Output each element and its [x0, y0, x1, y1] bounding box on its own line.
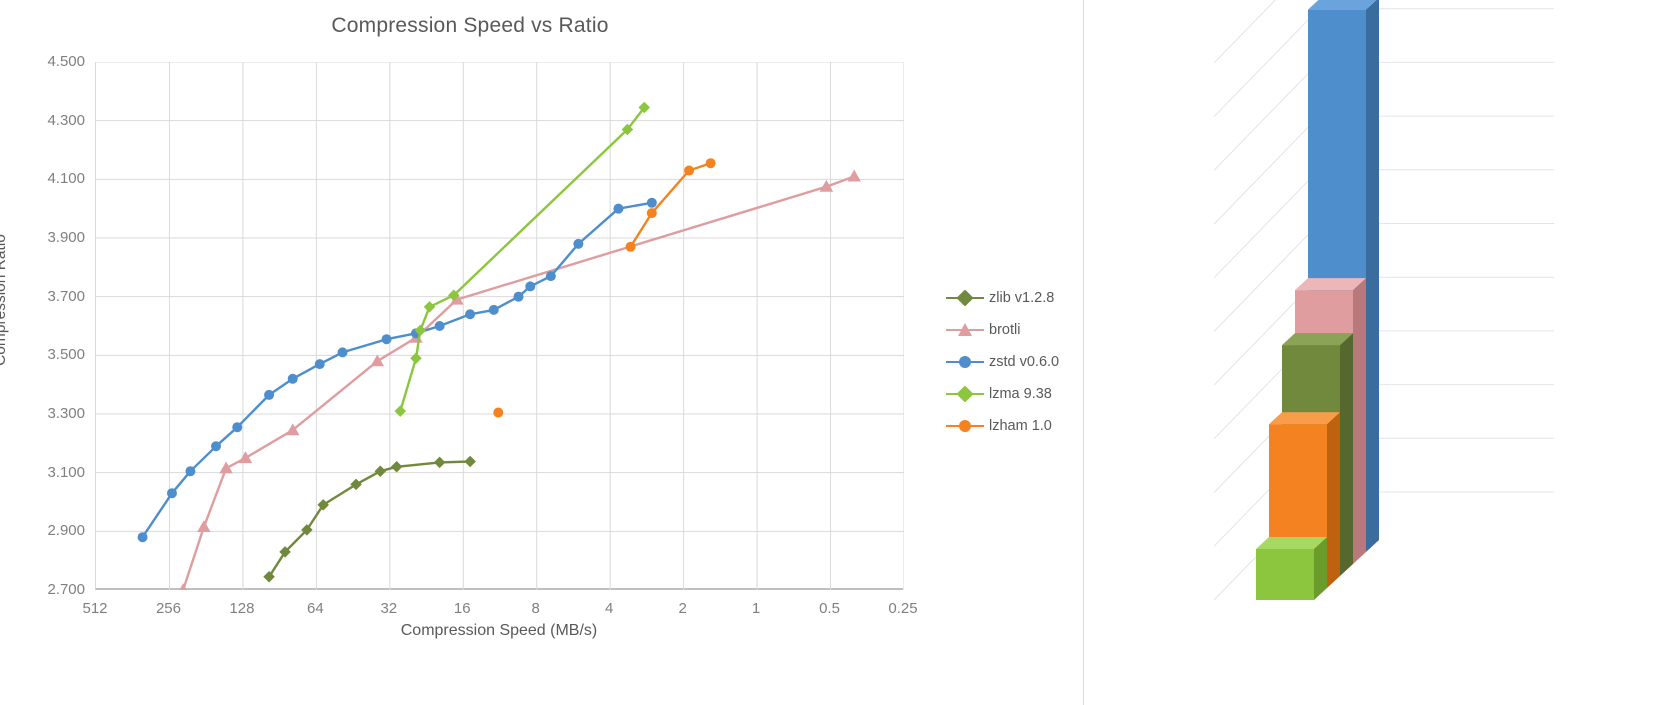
data-point: [350, 479, 361, 491]
series-line: [400, 108, 644, 412]
y-axis-title: Compression Ratio: [0, 234, 10, 366]
data-point: [525, 281, 535, 291]
data-point: [647, 208, 657, 218]
data-point: [573, 239, 583, 249]
data-point: [176, 583, 190, 590]
data-point: [197, 520, 211, 532]
bar-side-face: [1366, 0, 1379, 552]
compression-scatter-panel: Compression Speed vs Ratio Compression R…: [0, 0, 1083, 705]
legend-marker-icon: [946, 290, 984, 306]
y-tick-label: 3.100: [23, 464, 85, 481]
data-point: [264, 390, 274, 400]
data-point: [435, 321, 445, 331]
data-point: [219, 462, 233, 474]
bar-front-face: [1256, 549, 1314, 600]
data-point: [288, 374, 298, 384]
data-point: [546, 271, 556, 281]
x-tick-label: 64: [285, 600, 345, 617]
data-point: [138, 532, 148, 542]
data-point: [424, 301, 436, 313]
legend-marker-icon: [946, 418, 984, 434]
legend-item-zstd[interactable]: zstd v0.6.0: [946, 346, 1081, 378]
bar-side-face: [1353, 278, 1366, 564]
y-tick-label: 3.700: [23, 288, 85, 305]
data-point: [464, 456, 476, 468]
decompression-bar-panel: 01002003004005006007008009001000 zstd v0…: [1084, 0, 1670, 705]
page-title: Compression Speed vs Ratio: [0, 14, 940, 38]
x-tick-label: 16: [432, 600, 492, 617]
legend-item-lzham[interactable]: lzham 1.0: [946, 410, 1081, 442]
legend: zlib v1.2.8brotlizstd v0.6.0lzma 9.38lzh…: [946, 282, 1081, 442]
data-point: [338, 347, 348, 357]
data-point: [395, 405, 407, 417]
data-point: [211, 441, 221, 451]
legend-marker-icon: [946, 322, 984, 338]
plot-area: [95, 62, 903, 590]
x-tick-label: 4: [579, 600, 639, 617]
plot-svg: [96, 62, 904, 590]
data-point: [847, 170, 861, 182]
data-point: [613, 204, 623, 214]
data-point: [391, 461, 403, 473]
legend-item-lzma[interactable]: lzma 9.38: [946, 378, 1081, 410]
data-point: [489, 305, 499, 315]
legend-label: brotli: [989, 322, 1020, 338]
legend-label: zstd v0.6.0: [989, 354, 1059, 370]
data-point: [167, 488, 177, 498]
bar-side-face: [1340, 333, 1353, 576]
series-line: [269, 462, 470, 577]
data-point: [410, 353, 422, 365]
x-tick-label: 8: [506, 600, 566, 617]
data-point: [684, 166, 694, 176]
data-point: [626, 242, 636, 252]
data-point: [465, 309, 475, 319]
x-tick-label: 32: [359, 600, 419, 617]
data-point: [434, 457, 446, 469]
data-point: [375, 465, 387, 477]
data-point: [185, 466, 195, 476]
data-point: [232, 422, 242, 432]
y-tick-label: 4.100: [23, 170, 85, 187]
legend-marker-icon: [946, 386, 984, 402]
data-point: [493, 408, 503, 418]
data-point: [647, 198, 657, 208]
data-point: [706, 158, 716, 168]
legend-item-zlib[interactable]: zlib v1.2.8: [946, 282, 1081, 314]
y-tick-label: 4.500: [23, 53, 85, 70]
x-tick-label: 2: [653, 600, 713, 617]
bar-chart-svg: [1084, 0, 1670, 705]
data-point: [371, 354, 385, 366]
y-tick-label: 3.300: [23, 405, 85, 422]
x-tick-label: 128: [212, 600, 272, 617]
legend-item-brotli[interactable]: brotli: [946, 314, 1081, 346]
data-point: [382, 334, 392, 344]
chart-page: Compression Speed vs Ratio Compression R…: [0, 0, 1670, 705]
y-tick-label: 2.700: [23, 581, 85, 598]
y-tick-label: 2.900: [23, 522, 85, 539]
legend-label: zlib v1.2.8: [989, 290, 1054, 306]
x-tick-label: 512: [65, 600, 125, 617]
x-tick-label: 1: [726, 600, 786, 617]
legend-label: lzham 1.0: [989, 418, 1052, 434]
x-tick-label: 0.25: [873, 600, 933, 617]
legend-marker-icon: [946, 354, 984, 370]
x-tick-label: 0.5: [800, 600, 860, 617]
legend-label: lzma 9.38: [989, 386, 1052, 402]
data-point: [514, 292, 524, 302]
y-tick-label: 4.300: [23, 112, 85, 129]
x-tick-label: 256: [138, 600, 198, 617]
x-axis-title: Compression Speed (MB/s): [95, 622, 903, 640]
y-tick-label: 3.900: [23, 229, 85, 246]
data-point: [315, 359, 325, 369]
data-point: [239, 451, 253, 463]
y-tick-label: 3.500: [23, 346, 85, 363]
bar-side-face: [1327, 412, 1340, 588]
